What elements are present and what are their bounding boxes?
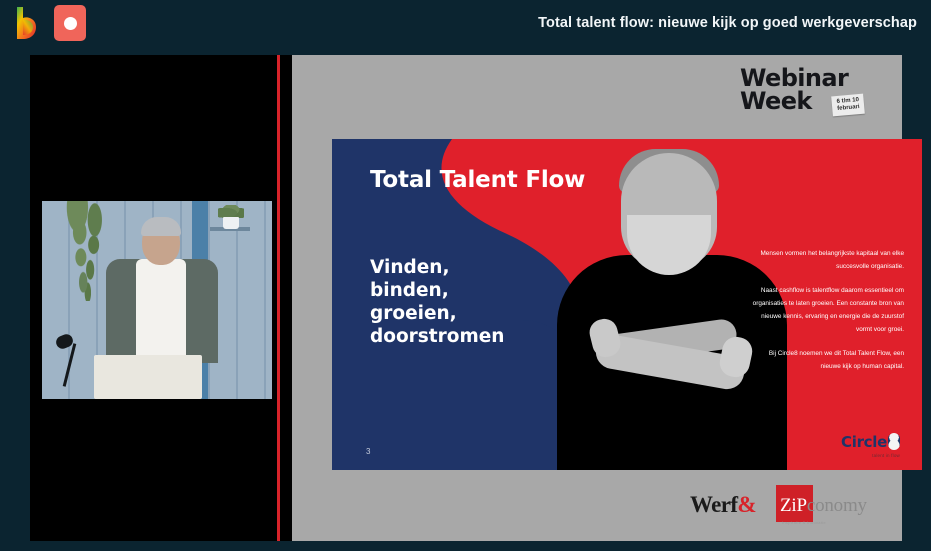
badge-line2: februari [837,104,860,113]
microphone-icon [56,335,90,387]
subtitle-line-1: Vinden, [370,256,504,279]
werf-ampersand-icon: & [737,492,756,517]
body-paragraph-2: Naast cashflow is talentflow daarom esse… [752,284,904,336]
slide-canvas: Total Talent Flow Vinden, binden, groeie… [332,139,922,470]
potted-plant-icon [216,205,246,229]
body-paragraph-1: Mensen vormen het belangrijkste kapitaal… [752,247,904,273]
circle8-eight-icon [888,433,900,450]
presenter-video-pane[interactable] [30,55,275,541]
titlebar-icon-group [10,5,86,41]
webinar-week-branding: Webinar Week 6 t/m 10 februari [740,67,890,113]
presentation-stage: Webinar Week 6 t/m 10 februari Total Tal… [30,55,902,541]
webinar-week-line2: Week [740,90,890,113]
circle8-tagline: talent in flow [841,453,900,458]
record-button-icon[interactable] [54,5,86,41]
b-logo-icon[interactable] [10,5,42,41]
presenter-video-frame [42,201,272,399]
record-dot-icon [64,17,77,30]
zipconomy-rest: conomy [807,495,867,516]
subtitle-line-3: groeien, [370,302,504,325]
presenter-hair [141,217,181,236]
subtitle-line-2: binden, [370,279,504,302]
pane-divider [277,55,280,541]
slide-pane[interactable]: Webinar Week 6 t/m 10 februari Total Tal… [292,55,902,541]
subtitle-line-4: doorstromen [370,325,504,348]
circle8-wordmark: Circle [841,433,887,451]
partner-logos: Werf& ZiPconomy Inspiratie & Innovatie [690,483,898,527]
body-paragraph-3: Bij Circle8 noemen we dit Total Talent F… [752,347,904,373]
slide-subtitle: Vinden, binden, groeien, doorstromen [370,256,504,348]
zipconomy-zip: ZiP [780,495,807,516]
microphone-arm [63,343,77,386]
webinar-week-date-badge: 6 t/m 10 februari [831,94,865,117]
zipconomy-logo: ZiPconomy Inspiratie & Innovatie [776,485,867,525]
window-title: Total talent flow: nieuwe kijk op goed w… [538,0,917,47]
werf-logo: Werf& [690,492,756,518]
plant-pot [223,217,239,229]
window-titlebar: Total talent flow: nieuwe kijk op goed w… [0,0,931,47]
lectern [94,355,202,399]
slide-title: Total Talent Flow [370,167,585,193]
werf-word: Werf [690,492,737,517]
slide-number: 3 [366,447,370,456]
zipconomy-wordmark: ZiPconomy [776,495,867,525]
presenter-shirt [136,259,186,357]
circle8-logo: Circle talent in flow [841,433,900,458]
slide-body-text: Mensen vormen het belangrijkste kapitaal… [752,247,904,384]
